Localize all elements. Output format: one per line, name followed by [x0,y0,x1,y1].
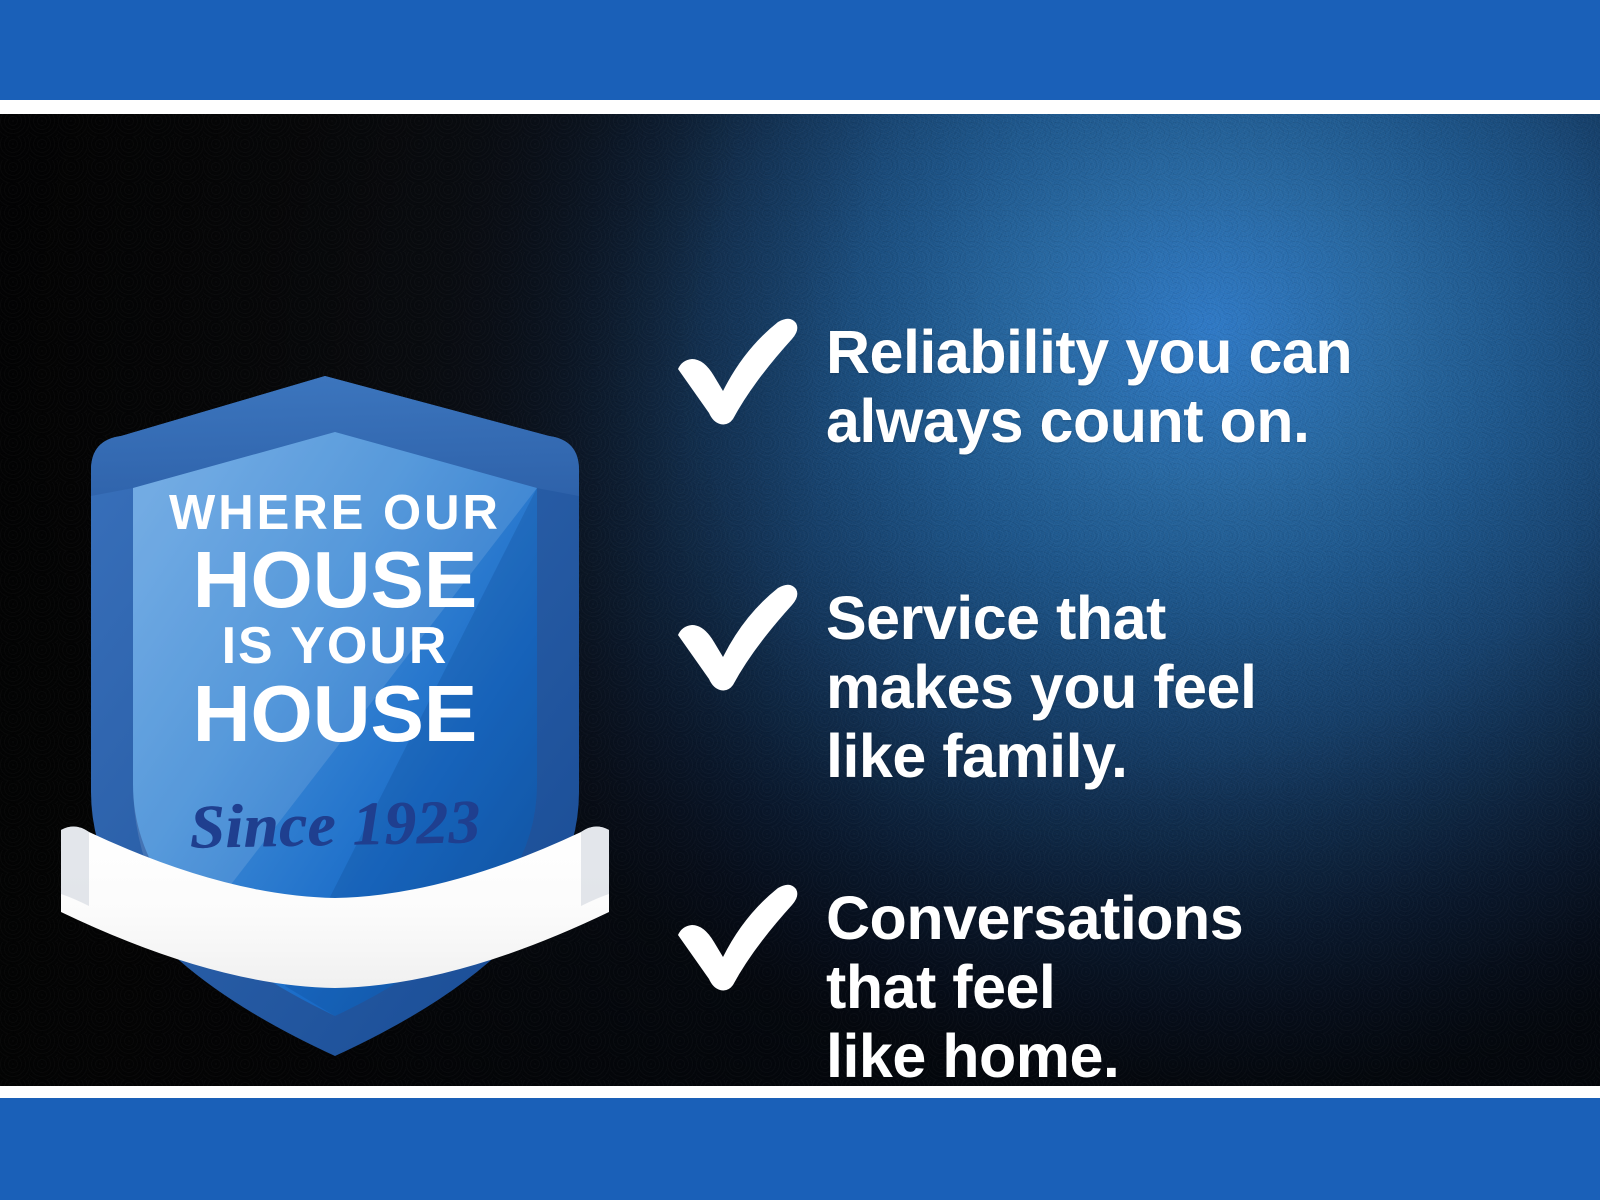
top-brand-bar [0,0,1600,100]
promo-graphic: WHERE OUR HOUSE IS YOUR HOUSE Since 1923… [0,0,1600,1200]
benefit-item-2: Service that makes you feel like family. [670,580,1256,791]
benefit-2-line-2: makes you feel [826,653,1256,722]
ribbon-left-fold [61,826,89,906]
benefit-3-line-1: Conversations [826,884,1243,953]
benefit-3-line-3: like home. [826,1022,1243,1088]
ribbon-right-fold [581,826,609,906]
benefit-text-3: Conversations that feel like home. [826,880,1243,1088]
checkmark-icon [670,580,800,692]
benefit-item-3: Conversations that feel like home. [670,880,1243,1088]
top-divider [0,100,1600,114]
benefits-list: Reliability you can always count on. Ser… [670,228,1550,1088]
benefit-2-line-1: Service that [826,584,1256,653]
benefit-3-line-2: that feel [826,953,1243,1022]
brand-shield-logo: WHERE OUR HOUSE IS YOUR HOUSE Since 1923 [55,244,615,1084]
benefit-item-1: Reliability you can always count on. [670,314,1352,456]
main-stage: WHERE OUR HOUSE IS YOUR HOUSE Since 1923… [0,114,1600,1088]
bottom-divider [0,1086,1600,1098]
checkmark-icon [670,880,800,992]
benefit-text-2: Service that makes you feel like family. [826,580,1256,791]
benefit-2-line-3: like family. [826,722,1256,791]
benefit-1-line-1: Reliability you can [826,318,1352,387]
benefit-1-line-2: always count on. [826,387,1352,456]
benefit-text-1: Reliability you can always count on. [826,314,1352,456]
checkmark-icon [670,314,800,426]
bottom-brand-bar [0,1098,1600,1200]
